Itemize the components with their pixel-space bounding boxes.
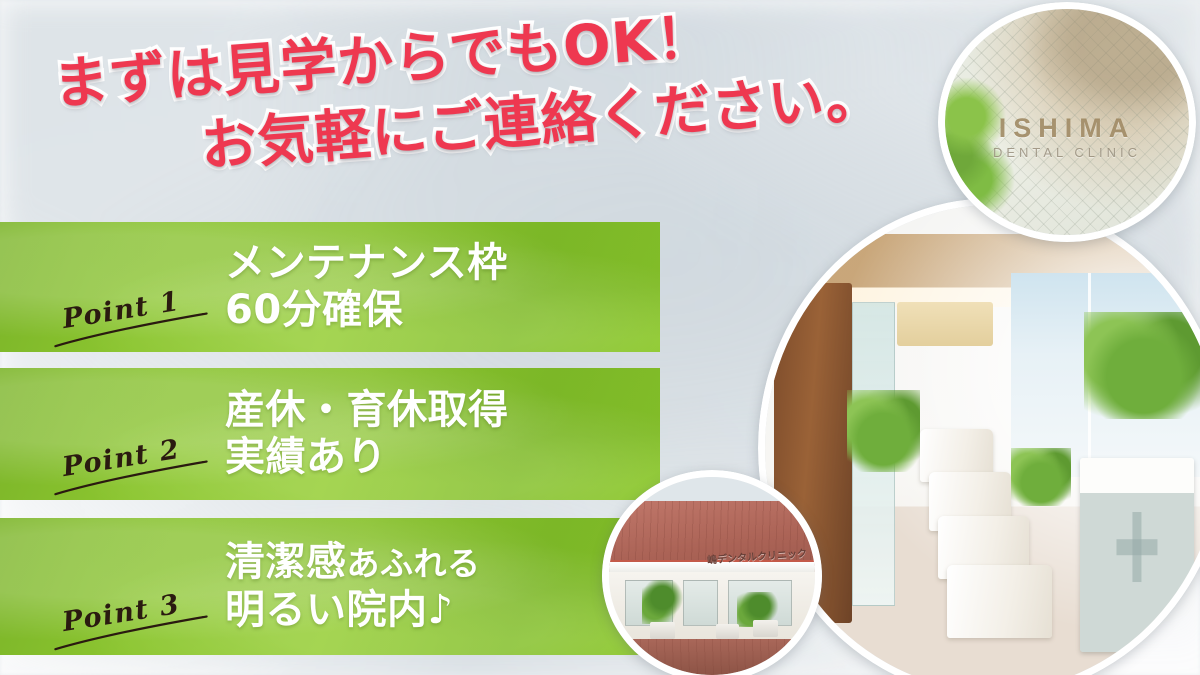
point-band-2: Point 2 産休・育休取得 実績あり <box>0 368 660 500</box>
clinic-exterior-photo: 嶋デンタルクリニック <box>602 470 822 675</box>
exterior-planter <box>650 622 675 640</box>
interior-hanging-plant <box>1084 312 1200 419</box>
exterior-plant <box>642 580 683 624</box>
interior-chair <box>947 565 1052 638</box>
point-text-2-line1: 産休・育休取得 <box>225 387 650 434</box>
point-tag-2: Point 2 <box>0 368 225 500</box>
clinic-waiting-room-photo-image <box>765 205 1200 675</box>
interior-air-conditioner <box>897 302 993 346</box>
clinic-sign-name: ISHIMA <box>945 113 1189 144</box>
sign-leaf-shadow <box>1018 9 1189 127</box>
cross-icon <box>1132 512 1141 582</box>
point-tag-3: Point 3 <box>0 518 225 655</box>
point-band-1: Point 1 メンテナンス枠 60分確保 <box>0 222 660 352</box>
clinic-exterior-photo-image: 嶋デンタルクリニック <box>609 477 815 675</box>
point-text-3-line2: 明るい院内♪ <box>225 587 650 634</box>
recruitment-banner: まずは見学からでもOK！ お気軽にご連絡ください。 Point 1 メンテナンス… <box>0 0 1200 675</box>
interior-small-plant <box>1011 448 1070 506</box>
clinic-entrance-sign-photo: ISHIMA DENTAL CLINIC <box>938 2 1196 242</box>
point-text-1: メンテナンス枠 60分確保 <box>225 240 660 334</box>
point-text-1-line1: メンテナンス枠 <box>225 240 650 287</box>
point-text-1-line2: 60分確保 <box>225 287 650 334</box>
point-text-3-line1-main: 清潔感 <box>225 539 347 585</box>
clinic-sign-subtitle: DENTAL CLINIC <box>945 145 1189 160</box>
point-text-2: 産休・育休取得 実績あり <box>225 387 660 481</box>
point-text-3-line1-small: あふれる <box>347 544 481 583</box>
point-text-2-line2: 実績あり <box>225 434 650 481</box>
point-text-3-line1: 清潔感あふれる <box>225 539 650 586</box>
exterior-door <box>683 580 718 626</box>
point-text-3: 清潔感あふれる 明るい院内♪ <box>225 539 660 633</box>
clinic-entrance-sign-photo-image: ISHIMA DENTAL CLINIC <box>945 9 1189 235</box>
interior-potted-plant <box>847 390 920 473</box>
exterior-planter <box>716 624 739 640</box>
point-band-3: Point 3 清潔感あふれる 明るい院内♪ <box>0 518 660 655</box>
points-list: Point 1 メンテナンス枠 60分確保 Point 2 <box>0 222 660 655</box>
point-tag-1: Point 1 <box>0 222 225 352</box>
interior-glass-cabinet <box>1080 458 1194 652</box>
exterior-planter <box>753 620 778 638</box>
exterior-pavement <box>609 639 815 675</box>
